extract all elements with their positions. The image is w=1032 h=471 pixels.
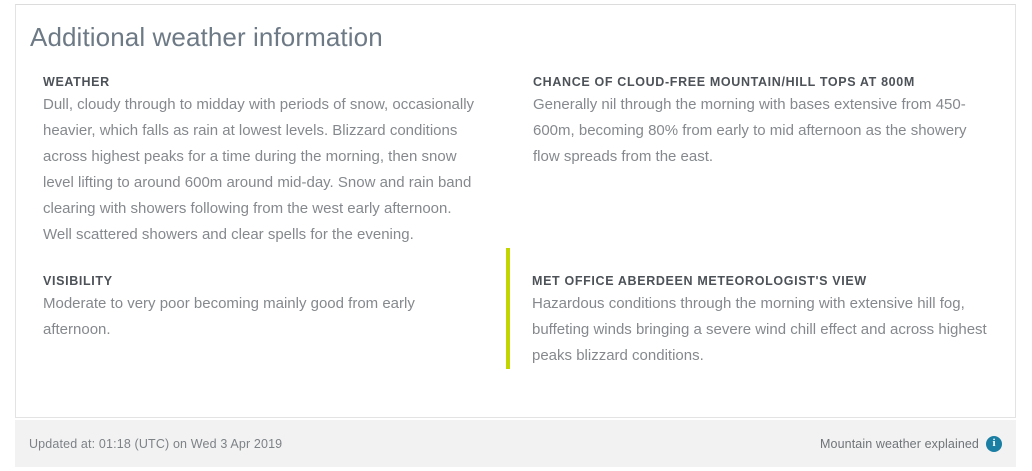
footer-right-group: Mountain weather explained i bbox=[820, 436, 1002, 452]
section-weather: WEATHER Dull, cloudy through to midday w… bbox=[16, 73, 506, 248]
info-icon[interactable]: i bbox=[986, 436, 1002, 452]
weather-information-page: Additional weather information WEATHER D… bbox=[0, 0, 1032, 471]
section-chance-of-cloud-free-tops-label: CHANCE OF CLOUD-FREE MOUNTAIN/HILL TOPS … bbox=[533, 73, 989, 91]
section-weather-label: WEATHER bbox=[43, 73, 480, 91]
section-chance-of-cloud-free-tops-body: Generally nil through the morning with b… bbox=[533, 92, 989, 170]
card-footer: Updated at: 01:18 (UTC) on Wed 3 Apr 201… bbox=[15, 420, 1016, 467]
section-meteorologists-view-label: MET OFFICE ABERDEEN METEOROLOGIST'S VIEW bbox=[532, 272, 989, 290]
mountain-weather-explained-link[interactable]: Mountain weather explained bbox=[820, 437, 979, 451]
section-visibility-label: VISIBILITY bbox=[43, 272, 480, 290]
section-chance-of-cloud-free-tops: CHANCE OF CLOUD-FREE MOUNTAIN/HILL TOPS … bbox=[506, 73, 1015, 248]
section-meteorologists-view: MET OFFICE ABERDEEN METEOROLOGIST'S VIEW… bbox=[506, 248, 1015, 369]
additional-weather-information-card: Additional weather information WEATHER D… bbox=[15, 4, 1016, 418]
page-title: Additional weather information bbox=[16, 5, 1015, 53]
section-visibility-body: Moderate to very poor becoming mainly go… bbox=[43, 291, 480, 343]
section-visibility: VISIBILITY Moderate to very poor becomin… bbox=[16, 248, 506, 369]
section-meteorologists-view-body: Hazardous conditions through the morning… bbox=[532, 291, 989, 369]
section-weather-body: Dull, cloudy through to midday with peri… bbox=[43, 92, 480, 248]
updated-at-timestamp: Updated at: 01:18 (UTC) on Wed 3 Apr 201… bbox=[29, 437, 282, 451]
weather-sections-grid: WEATHER Dull, cloudy through to midday w… bbox=[16, 53, 1015, 369]
